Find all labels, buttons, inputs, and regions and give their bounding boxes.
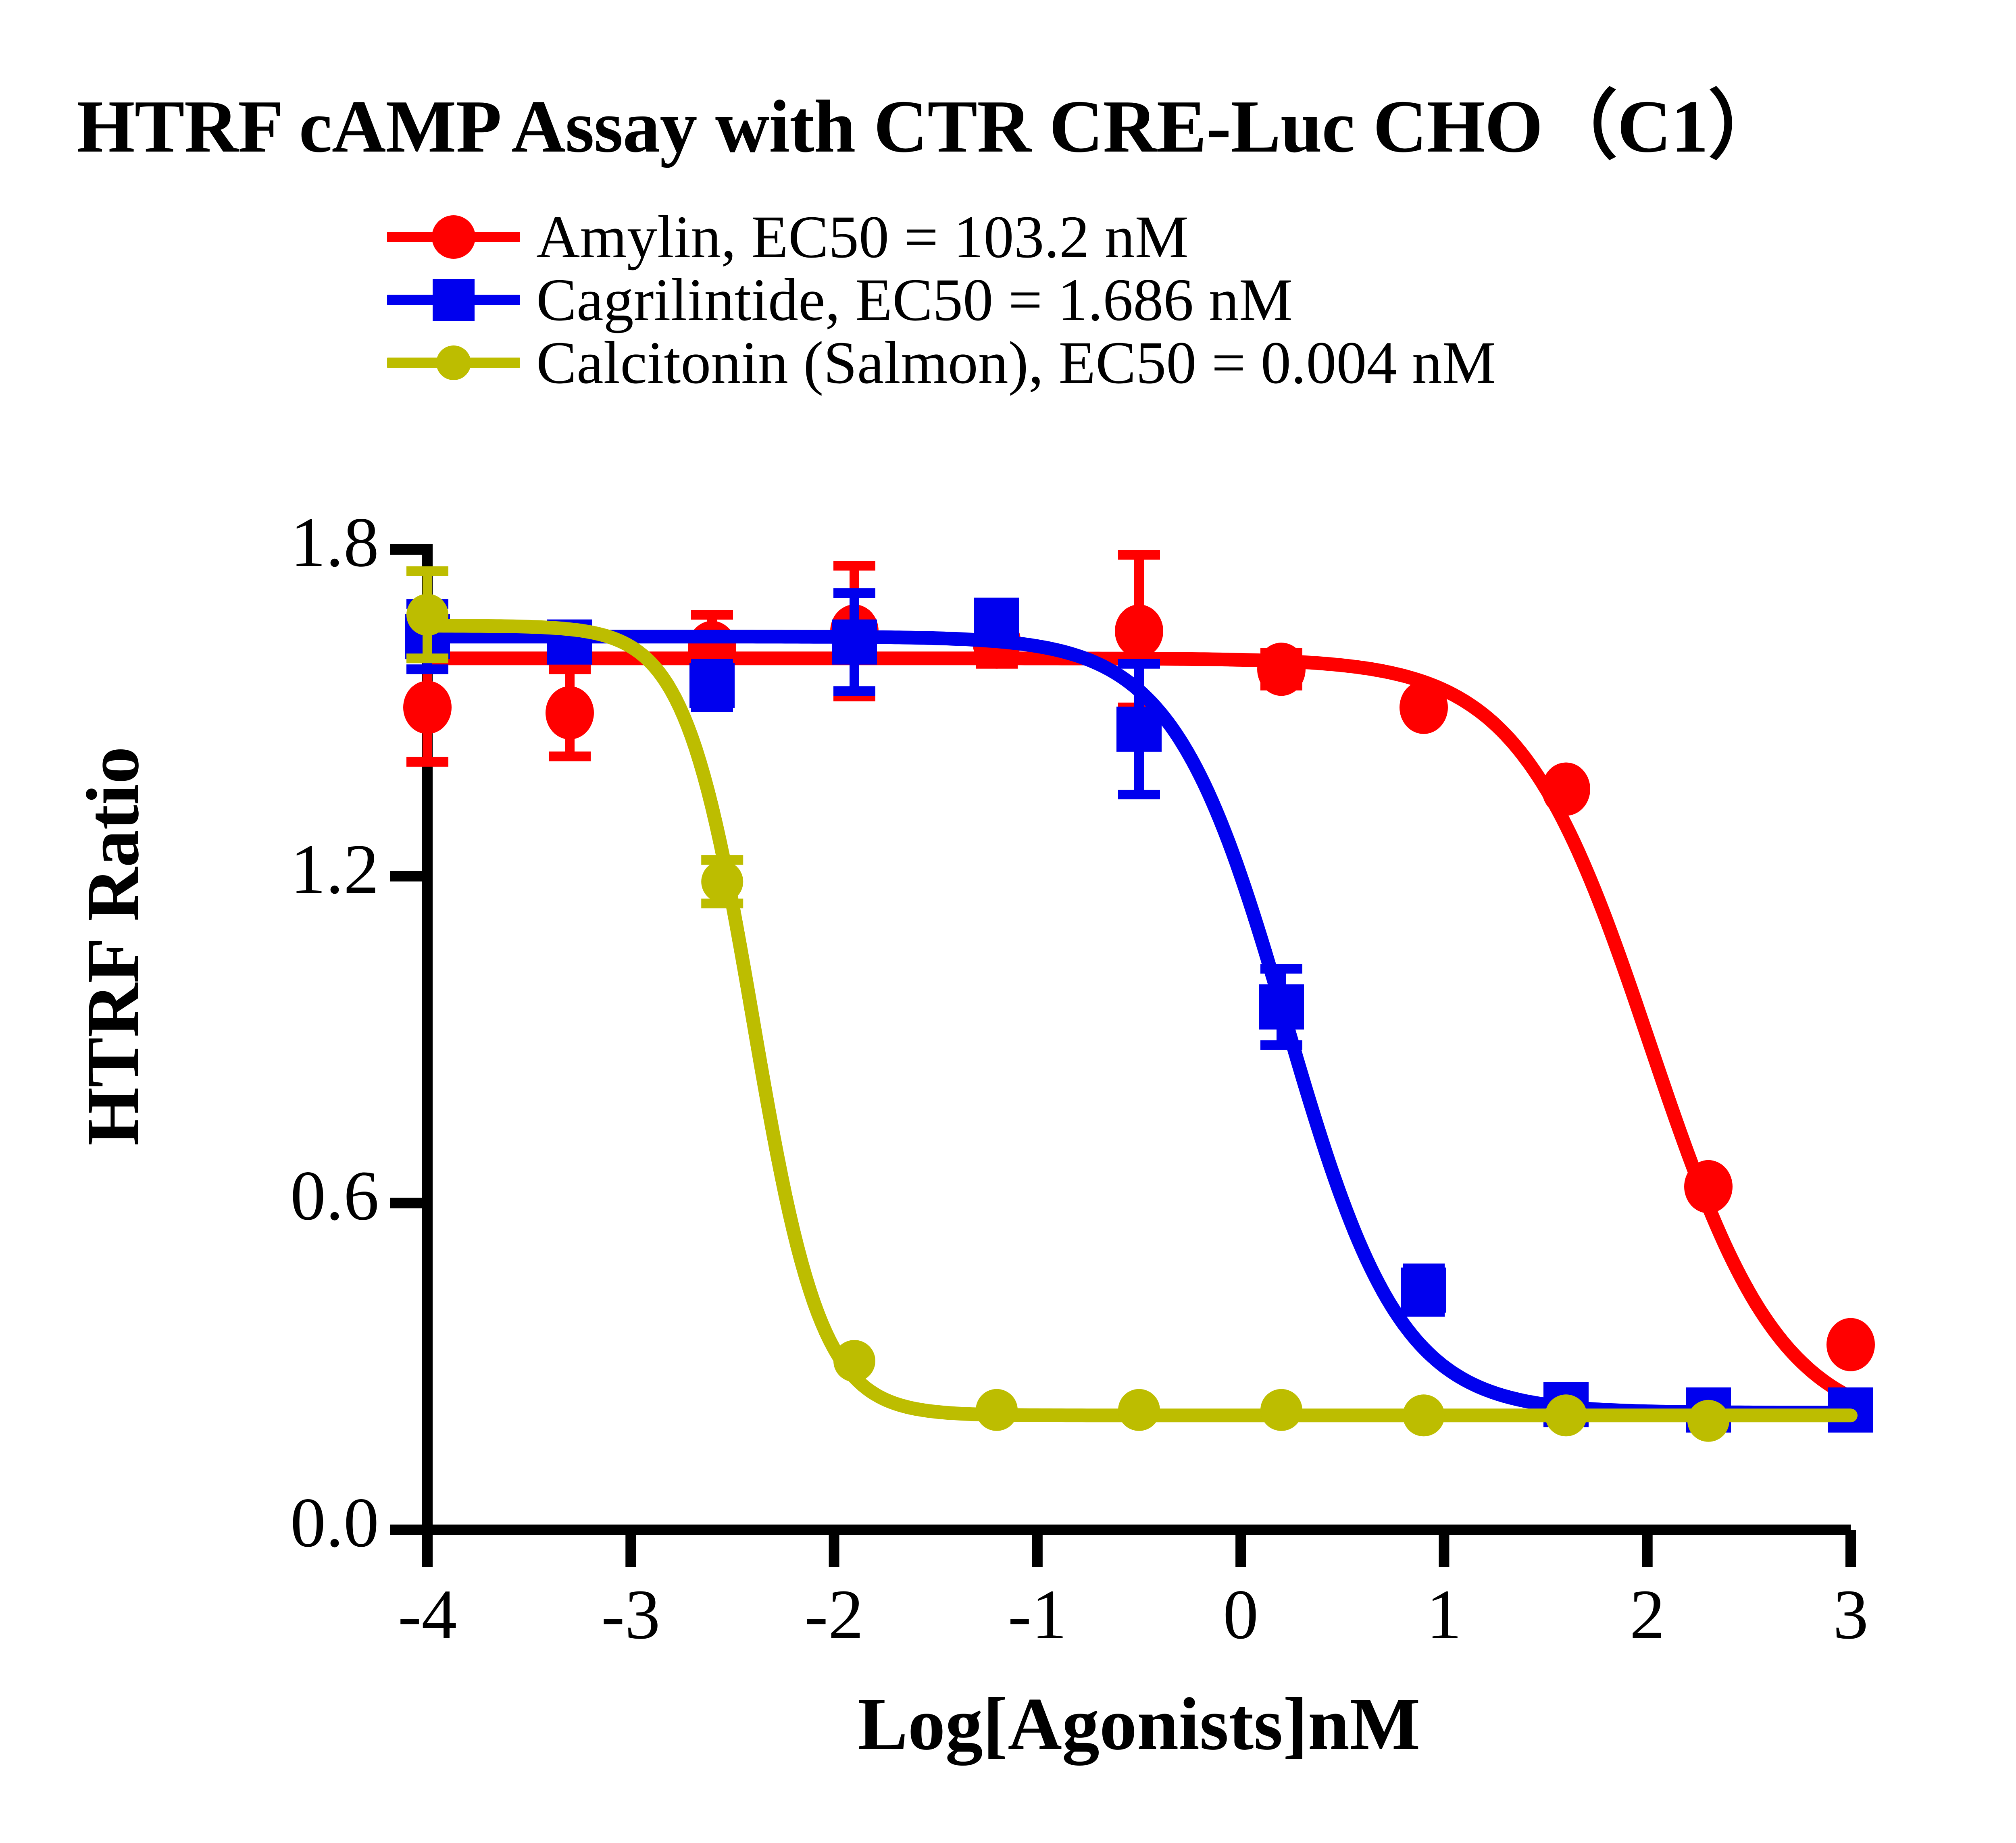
- data-point: [1826, 1318, 1875, 1371]
- data-point: [1401, 1268, 1446, 1313]
- data-point: [1118, 1389, 1160, 1431]
- x-tick-label: 2: [1567, 1574, 1728, 1656]
- x-tick-label: 1: [1363, 1574, 1524, 1656]
- data-point: [701, 861, 743, 903]
- y-tick-label: 0.6: [290, 1155, 379, 1237]
- series-cagrilintide: [405, 593, 1873, 1433]
- data-point: [833, 1340, 875, 1382]
- data-point: [1542, 762, 1590, 815]
- data-point: [1257, 643, 1306, 696]
- figure-root: HTRF cAMP Assay with CTR CRE-Luc CHO（C1）…: [0, 0, 2016, 1843]
- plot-svg: [0, 0, 2016, 1843]
- y-tick-label: 0.0: [290, 1482, 379, 1564]
- y-tick-label: 1.8: [290, 502, 379, 583]
- data-point: [1403, 1394, 1445, 1436]
- x-tick-label: 0: [1160, 1574, 1321, 1656]
- data-point: [976, 1389, 1018, 1431]
- data-point: [403, 681, 452, 734]
- data-point: [974, 598, 1019, 643]
- data-point: [1687, 1400, 1729, 1442]
- y-tick-label: 1.2: [290, 829, 379, 910]
- x-tick-label: 3: [1770, 1574, 1931, 1656]
- data-point: [832, 620, 877, 665]
- data-point: [1260, 1389, 1302, 1431]
- x-tick-label: -2: [754, 1574, 915, 1656]
- x-tick-label: -3: [550, 1574, 711, 1656]
- plot-area: HTRF Ratio Log[Agonists]nM 1.81.20.60.0-…: [0, 0, 2016, 1843]
- data-point: [689, 663, 735, 708]
- data-point: [1259, 984, 1304, 1030]
- data-point: [1684, 1160, 1733, 1213]
- x-tick-label: -1: [957, 1574, 1118, 1656]
- data-point: [1545, 1394, 1587, 1436]
- data-point: [546, 686, 594, 739]
- data-point: [406, 594, 448, 636]
- data-point: [1115, 605, 1163, 658]
- data-point: [1116, 707, 1162, 752]
- x-tick-label: -4: [347, 1574, 508, 1656]
- data-point: [1400, 681, 1448, 734]
